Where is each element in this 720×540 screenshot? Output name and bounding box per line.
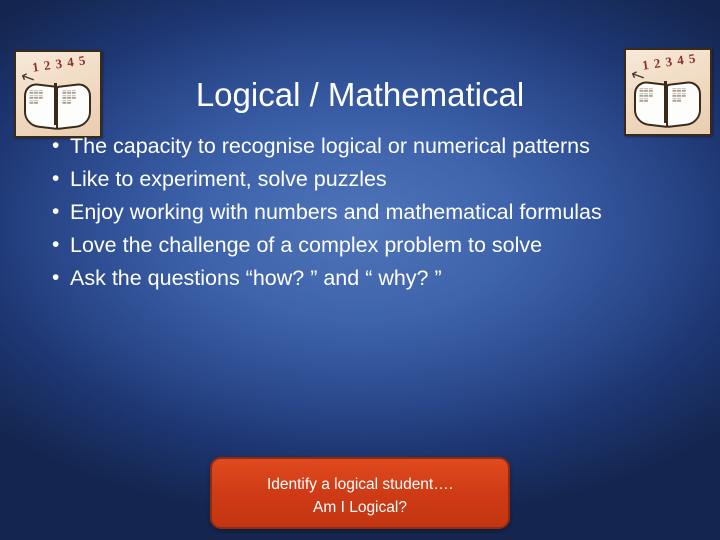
slide-title: Logical / Mathematical bbox=[0, 76, 720, 114]
list-item: • Ask the questions “how? ” and “ why? ” bbox=[40, 262, 680, 294]
list-item-text: Like to experiment, solve puzzles bbox=[70, 167, 387, 191]
clipart-numbers-label: 1 2 3 4 5 bbox=[641, 50, 697, 73]
bullet-marker-icon: • bbox=[52, 163, 59, 195]
list-item: • The capacity to recognise logical or n… bbox=[40, 130, 680, 162]
callout-line-2: Am I Logical? bbox=[212, 496, 508, 519]
list-item: • Like to experiment, solve puzzles bbox=[40, 163, 680, 195]
bullet-marker-icon: • bbox=[52, 196, 59, 228]
callout-line-1: Identify a logical student…. bbox=[212, 473, 508, 496]
slide-canvas: ↖ 1 2 3 4 5 ≡≡≡≡≡≡≡≡ ≡≡≡≡≡≡≡≡ ↖ 1 2 3 4 … bbox=[0, 0, 720, 540]
bullet-list: • The capacity to recognise logical or n… bbox=[40, 130, 680, 295]
callout-box: Identify a logical student…. Am I Logica… bbox=[210, 457, 510, 529]
list-item: • Love the challenge of a complex proble… bbox=[40, 229, 680, 261]
bullet-marker-icon: • bbox=[52, 229, 59, 261]
list-item: • Enjoy working with numbers and mathema… bbox=[40, 196, 680, 228]
list-item-text: Ask the questions “how? ” and “ why? ” bbox=[70, 266, 442, 290]
list-item-text: The capacity to recognise logical or num… bbox=[70, 134, 590, 158]
list-item-text: Love the challenge of a complex problem … bbox=[70, 233, 542, 257]
bullet-marker-icon: • bbox=[52, 130, 59, 162]
list-item-text: Enjoy working with numbers and mathemati… bbox=[70, 200, 602, 224]
clipart-numbers-label: 1 2 3 4 5 bbox=[31, 52, 87, 75]
bullet-marker-icon: • bbox=[52, 262, 59, 294]
